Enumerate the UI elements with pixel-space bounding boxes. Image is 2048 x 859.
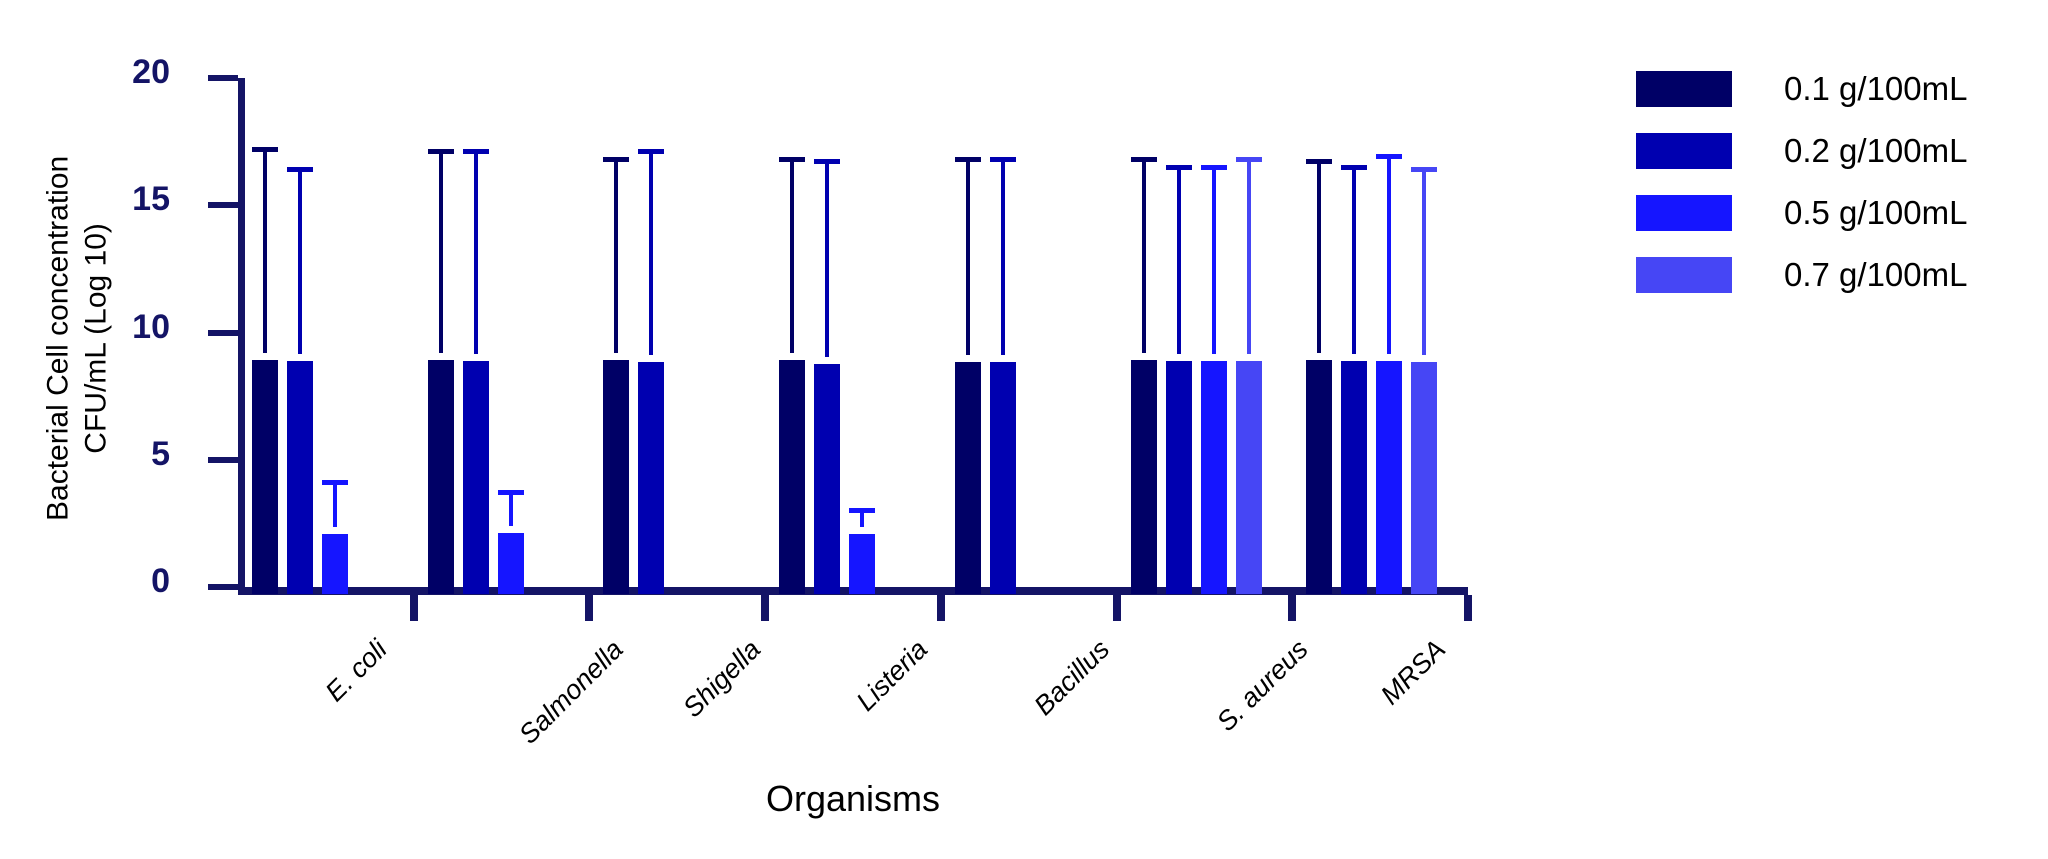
error-bar-cap [849,508,875,513]
bar [603,360,629,594]
error-bar-line [649,149,653,355]
y-axis-tick-label: 0 [50,562,170,601]
x-axis-category-label: Listeria [851,634,934,717]
y-axis-tick-label: 10 [50,308,170,347]
x-axis-tick [410,595,418,621]
error-bar-cap [990,157,1016,162]
error-bar-line [263,147,267,353]
error-bar-line [966,157,970,356]
error-bar-line [439,149,443,353]
x-axis-tick [1113,595,1121,621]
legend-item[interactable]: 0.5 g/100mL [1636,182,2036,244]
error-bar-cap [322,480,348,485]
error-bar-cap [1306,159,1332,164]
error-bar-cap [779,157,805,162]
error-bar-cap [1131,157,1157,162]
error-bar-cap [428,149,454,154]
error-bar-line [614,157,618,353]
x-axis-category-label: E. coli [320,634,394,708]
error-bar-line [1352,165,1356,355]
legend-swatch [1636,133,1732,169]
bar [1166,361,1192,594]
error-bar-cap [498,490,524,495]
bar [1306,360,1332,594]
bar [1236,361,1262,594]
error-bar-line [1177,165,1181,355]
y-axis-tick [208,457,238,463]
x-axis-category-label: MRSA [1375,634,1452,711]
x-axis-title: Organisms [238,778,1468,820]
error-bar-line [825,159,829,356]
legend-swatch [1636,257,1732,293]
error-bar-line [1317,159,1321,352]
legend-label: 0.1 g/100mL [1784,70,1967,108]
bar [1131,360,1157,594]
bar [1341,361,1367,594]
y-axis-tick [208,75,238,81]
x-axis-tick [761,595,769,621]
legend-swatch [1636,71,1732,107]
bar [287,361,313,594]
x-axis-tick [585,595,593,621]
bar [1376,361,1402,594]
x-axis-category-label: Shigella [678,634,768,724]
y-axis-line [238,78,245,594]
error-bar-line [1387,154,1391,354]
bar [779,360,805,594]
error-bar-cap [252,147,278,152]
x-axis-category-label: Bacillus [1028,634,1116,722]
error-bar-line [298,167,302,354]
error-bar-cap [463,149,489,154]
legend-item[interactable]: 0.1 g/100mL [1636,58,2036,120]
legend-swatch [1636,195,1732,231]
error-bar-cap [1341,165,1367,170]
x-axis-tick [1288,595,1296,621]
bar [814,364,840,594]
error-bar-cap [1201,165,1227,170]
legend: 0.1 g/100mL0.2 g/100mL0.5 g/100mL0.7 g/1… [1636,58,2036,306]
y-axis-tick-label: 20 [50,53,170,92]
bar [322,534,348,594]
error-bar-line [509,490,513,526]
x-axis-tick [937,595,945,621]
error-bar-line [790,157,794,353]
bar [498,533,524,594]
legend-label: 0.5 g/100mL [1784,194,1967,232]
error-bar-line [1247,157,1251,354]
error-bar-line [1001,157,1005,356]
plot-area: 05101520 E. coliSalmonellaShigellaLister… [238,78,1468,594]
error-bar-cap [1411,167,1437,172]
y-axis-tick [208,584,238,590]
bar [849,534,875,594]
error-bar-cap [814,159,840,164]
legend-item[interactable]: 0.2 g/100mL [1636,120,2036,182]
y-axis-tick-label: 15 [50,180,170,219]
error-bar-cap [1236,157,1262,162]
error-bar-cap [1166,165,1192,170]
error-bar-cap [638,149,664,154]
bar [1201,361,1227,594]
bar [428,360,454,594]
bar [638,362,664,594]
legend-item[interactable]: 0.7 g/100mL [1636,244,2036,306]
y-axis-tick-label: 5 [50,435,170,474]
error-bar-line [1422,167,1426,355]
x-axis-tick [1464,595,1472,621]
bar [463,361,489,594]
x-axis-category-label: Salmonella [513,634,629,750]
error-bar-line [1142,157,1146,353]
bar-chart-figure: Bacterial Cell concentration CFU/mL (Log… [0,0,2048,859]
error-bar-line [1212,165,1216,355]
bar [252,360,278,594]
error-bar-cap [1376,154,1402,159]
bar [955,362,981,594]
error-bar-line [474,149,478,354]
y-axis-tick [208,330,238,336]
error-bar-cap [955,157,981,162]
bar [1411,362,1437,594]
bar [990,362,1016,594]
legend-label: 0.7 g/100mL [1784,256,1967,294]
legend-label: 0.2 g/100mL [1784,132,1967,170]
error-bar-cap [603,157,629,162]
y-axis-tick [208,202,238,208]
error-bar-line [333,480,337,527]
x-axis-category-label: S. aureus [1210,634,1314,738]
error-bar-cap [287,167,313,172]
